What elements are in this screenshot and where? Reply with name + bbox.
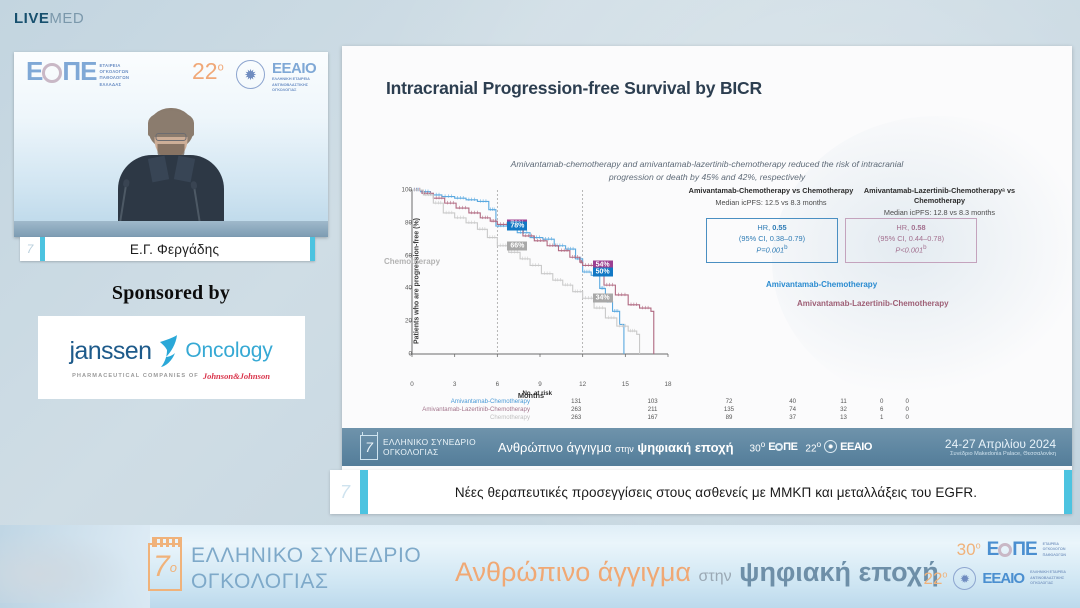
x-tick: 6 <box>496 381 500 388</box>
risk-row-label: Amivantamab-Chemotherapy <box>360 397 538 405</box>
x-tick: 0 <box>410 381 414 388</box>
x-tick: 15 <box>622 381 629 388</box>
crab-seal-icon: ✹ <box>236 60 265 89</box>
caption-accent-right <box>1064 470 1072 514</box>
bottom-badges: 30ο EΠE ΕΤΑΙΡΕΙΑΟΓΚΟΛΟΓΩΝΠΑΘΟΛΟΓΩΝ 22ο ✹… <box>923 539 1066 590</box>
km-annotation-label: 66% <box>507 241 527 250</box>
risk-table-row: Chemotherapy26316789371310 <box>360 413 920 421</box>
risk-table-header: No. at risk <box>360 390 556 397</box>
risk-cell: 263 <box>538 405 614 413</box>
slide-title: Intracranial Progression-free Survival b… <box>386 78 762 99</box>
eope-subtext: ΕΤΑΙΡΕΙΑΟΓΚΟΛΟΓΩΝΠΑΘΟΛΟΓΩΝΕΛΛΑΔΑΣ <box>99 60 129 88</box>
oncology-wordmark: Oncology <box>185 339 272 363</box>
congress-badge-22: 22ο ✹ ΕΕΑΙΟ <box>805 439 872 454</box>
x-tick: 3 <box>453 381 457 388</box>
risk-cell: 211 <box>614 405 690 413</box>
caption-accent-left <box>360 470 368 514</box>
comparison-2-header: Amivantamab-Lazertinib-Chemotherapyᵃ vs … <box>847 186 1032 219</box>
hr-1-p: P=0.001b <box>707 244 837 256</box>
glasses-icon <box>156 133 187 141</box>
janssen-logo: janssen Oncology <box>69 334 272 368</box>
livemed-logo[interactable]: LIVEMED <box>14 10 84 27</box>
km-plot: Patients who are progression-free (%) Mo… <box>386 186 676 376</box>
eeaio-logo: ΕΕΑΙΟ ΕΛΛΗΝΙΚΗ ΕΤΑΙΡΕΙΑΑΝΤΙΝΟΒΛΑΣΤΙΚΗΣΟΓ… <box>272 60 316 94</box>
risk-cell: 167 <box>614 413 690 421</box>
bottom-congress-name: ΕΛΛΗΝΙΚΟ ΣΥΝΕΔΡΙΟ ΟΓΚΟΛΟΓΙΑΣ <box>191 543 421 594</box>
congress-badge-7-icon: 7 <box>360 435 378 460</box>
hr-box-1: HR, 0.55 (95% CI, 0.38–0.79) P=0.001b <box>706 218 838 263</box>
hr-2-p: P<0.001b <box>846 244 976 256</box>
eope-mark: EΠE <box>26 60 96 83</box>
congress-badges: 30ο EΠE 22ο ✹ ΕΕΑΙΟ <box>750 439 872 454</box>
congress-logo: 7 ΕΛΛΗΝΙΚΟ ΣΥΝΕΔΡΙΟ ΟΓΚΟΛΟΓΙΑΣ <box>360 435 476 460</box>
hr-1-value: HR, 0.55 <box>707 223 837 234</box>
sponsor-section: Sponsored by janssen Oncology PHARMACEUT… <box>0 282 342 399</box>
sponsor-footer-prefix: PHARMACEUTICAL COMPANIES OF <box>72 373 199 379</box>
risk-cell: 131 <box>538 397 614 405</box>
risk-table-row: Amivantamab-Lazertinib-Chemotherapy26321… <box>360 405 920 413</box>
risk-cell: 0 <box>894 397 920 405</box>
eeaio-mark: ΕΕΑΙΟ <box>272 60 316 77</box>
congress-dates: 24-27 Απριλίου 2024 <box>945 437 1056 451</box>
eeaio-subtext: ΕΛΛΗΝΙΚΗ ΕΤΑΙΡΕΙΑΑΝΤΙΝΟΒΛΑΣΤΙΚΗΣΟΓΚΟΛΟΓΙ… <box>272 77 316 94</box>
x-tick: 9 <box>538 381 542 388</box>
bottom-badge-7-icon: 7ο <box>148 543 182 591</box>
risk-cell: 0 <box>894 413 920 421</box>
brand-med: MED <box>49 10 84 27</box>
sponsor-footer: PHARMACEUTICAL COMPANIES OF Johnson&John… <box>72 371 270 381</box>
comparison-1-title: Amivantamab-Chemotherapy vs Chemotherapy <box>686 186 856 196</box>
x-tick: 18 <box>664 381 671 388</box>
risk-cell: 263 <box>538 413 614 421</box>
risk-row-label: Chemotherapy <box>360 413 538 421</box>
risk-cell: 89 <box>691 413 767 421</box>
risk-cell: 72 <box>691 397 767 405</box>
jnj-wordmark: Johnson&Johnson <box>203 371 270 381</box>
sponsored-heading: Sponsored by <box>0 282 342 305</box>
bottom-eeaio-sub: ΕΛΛΗΝΙΚΗ ΕΤΑΙΡΕΙΑΑΝΤΙΝΟΒΛΑΣΤΙΚΗΣΟΓΚΟΛΟΓΙ… <box>1030 570 1066 586</box>
risk-cell: 32 <box>818 405 869 413</box>
bottom-eeaio-mark: ΕΕΑΙΟ <box>982 570 1024 587</box>
risk-cell: 74 <box>767 405 818 413</box>
bottom-badge-30: 30ο EΠE ΕΤΑΙΡΕΙΑΟΓΚΟΛΟΓΩΝΠΑΘΟΛΟΓΩΝ <box>957 539 1066 561</box>
caption-badge-icon: 7 <box>330 470 360 514</box>
accent-bar-right <box>310 237 315 261</box>
risk-cell: 103 <box>614 397 690 405</box>
bottom-crab-seal-icon: ✹ <box>953 567 976 590</box>
eope-swirl-icon <box>42 63 62 83</box>
crab-seal-mini-icon: ✹ <box>824 440 837 453</box>
legend-amivantamab-chemo: Amivantamab-Chemotherapy <box>766 280 877 289</box>
eope-logo: EΠE ΕΤΑΙΡΕΙΑΟΓΚΟΛΟΓΩΝΠΑΘΟΛΟΓΩΝΕΛΛΑΔΑΣ <box>26 60 129 88</box>
bottom-bar: 7ο ΕΛΛΗΝΙΚΟ ΣΥΝΕΔΡΙΟ ΟΓΚΟΛΟΓΙΑΣ Ανθρώπιν… <box>0 525 1080 608</box>
page-root: LIVEMED EΠE ΕΤΑΙΡΕΙΑΟΓΚΟΛΟΓΩΝΠΑΘΟΛΟΓΩΝΕΛ… <box>0 0 1080 608</box>
legend-amivantamab-lazertinib-chemo: Amivantamab-Lazertinib-Chemotherapy <box>797 299 949 308</box>
congress-badge-30: 30ο EΠE <box>750 439 798 454</box>
risk-row-label: Amivantamab-Lazertinib-Chemotherapy <box>360 405 538 413</box>
janssen-wordmark: janssen <box>69 337 151 366</box>
slide-subtitle: Amivantamab-chemotherapy and amivantamab… <box>342 158 1072 184</box>
risk-cell: 0 <box>894 405 920 413</box>
caption-bar: 7 Νέες θεραπευτικές προσεγγίσεις στους α… <box>330 470 1072 514</box>
backdrop-badge-22: 22ο <box>192 58 224 85</box>
legend-chemo: Chemotherapy <box>384 257 440 266</box>
video-player[interactable]: EΠE ΕΤΑΙΡΕΙΑΟΓΚΟΛΟΓΩΝΠΑΘΟΛΟΓΩΝΕΛΛΑΔΑΣ 22… <box>14 52 328 237</box>
slide-panel[interactable]: Intracranial Progression-free Survival b… <box>342 46 1072 470</box>
bottom-tagline: Ανθρώπινο άγγιγμα στην ψηφιακή εποχή <box>455 557 939 588</box>
bottom-hands-image <box>0 531 132 603</box>
risk-cell: 1 <box>869 413 894 421</box>
comparison-2-title: Amivantamab-Lazertinib-Chemotherapyᵃ vs … <box>847 186 1032 207</box>
congress-name: ΕΛΛΗΝΙΚΟ ΣΥΝΕΔΡΙΟ ΟΓΚΟΛΟΓΙΑΣ <box>383 437 476 458</box>
comparison-1-median: Median icPFS: 12.5 vs 8.3 months <box>686 198 856 208</box>
janssen-swoosh-icon <box>157 334 179 368</box>
congress-badge-icon: 7 <box>20 237 40 261</box>
comparison-1-header: Amivantamab-Chemotherapy vs Chemotherapy… <box>686 186 856 208</box>
x-tick: 12 <box>579 381 586 388</box>
bottom-badge-22: 22ο ✹ ΕΕΑΙΟ ΕΛΛΗΝΙΚΗ ΕΤΑΙΡΕΙΑΑΝΤΙΝΟΒΛΑΣΤ… <box>923 567 1066 590</box>
congress-venue: Συνέδριο Makedonia Palace, Θεσσαλονίκη <box>945 451 1056 457</box>
risk-cell: 0 <box>869 397 894 405</box>
hr-1-ci: (95% CI, 0.38–0.79) <box>707 234 837 245</box>
hr-box-2: HR, 0.58 (95% CI, 0.44–0.78) P<0.001b <box>845 218 977 263</box>
km-annotation-label: 34% <box>593 294 613 303</box>
bottom-congress-logo: 7ο ΕΛΛΗΝΙΚΟ ΣΥΝΕΔΡΙΟ ΟΓΚΟΛΟΓΙΑΣ <box>148 543 421 594</box>
hr-2-value: HR, 0.58 <box>846 223 976 234</box>
speaker-name: Ε.Γ. Φεργάδης <box>45 242 310 257</box>
backdrop-logos: EΠE ΕΤΑΙΡΕΙΑΟΓΚΟΛΟΓΩΝΠΑΘΟΛΟΓΩΝΕΛΛΑΔΑΣ 22… <box>14 56 328 94</box>
risk-cell: 37 <box>767 413 818 421</box>
podium <box>14 221 328 237</box>
brand-live: LIVE <box>14 10 49 27</box>
risk-cell: 40 <box>767 397 818 405</box>
km-curves <box>386 186 676 376</box>
km-annotation-label: 78% <box>507 222 527 231</box>
km-annotation-label: 50% <box>593 268 613 277</box>
risk-table: No. at risk Amivantamab-Chemotherapy1311… <box>360 390 920 422</box>
bottom-eope-sub: ΕΤΑΙΡΕΙΑΟΓΚΟΛΟΓΩΝΠΑΘΟΛΟΓΩΝ <box>1043 542 1066 558</box>
bottom-eope-mark: EΠE <box>987 539 1037 561</box>
congress-date-venue: 24-27 Απριλίου 2024 Συνέδριο Makedonia P… <box>945 437 1056 457</box>
eeaio-mini-mark: ΕΕΑΙΟ <box>840 441 872 453</box>
risk-cell: 6 <box>869 405 894 413</box>
congress-banner: 7 ΕΛΛΗΝΙΚΟ ΣΥΝΕΔΡΙΟ ΟΓΚΟΛΟΓΙΑΣ Ανθρώπινο… <box>342 428 1072 466</box>
risk-cell: 135 <box>691 405 767 413</box>
speaker-name-bar: 7 Ε.Γ. Φεργάδης <box>20 237 315 261</box>
sponsor-logo-card: janssen Oncology PHARMACEUTICAL COMPANIE… <box>38 316 305 399</box>
risk-cell: 13 <box>818 413 869 421</box>
risk-cell: 11 <box>818 397 869 405</box>
hr-2-ci: (95% CI, 0.44–0.78) <box>846 234 976 245</box>
caption-text: Νέες θεραπευτικές προσεγγίσεις στους ασθ… <box>368 485 1064 500</box>
eope-mini-mark: EΠE <box>768 441 797 453</box>
risk-table-row: Amivantamab-Chemotherapy13110372401100 <box>360 397 920 405</box>
congress-tagline: Ανθρώπινο άγγιγμα στην ψηφιακή εποχή <box>498 440 734 455</box>
